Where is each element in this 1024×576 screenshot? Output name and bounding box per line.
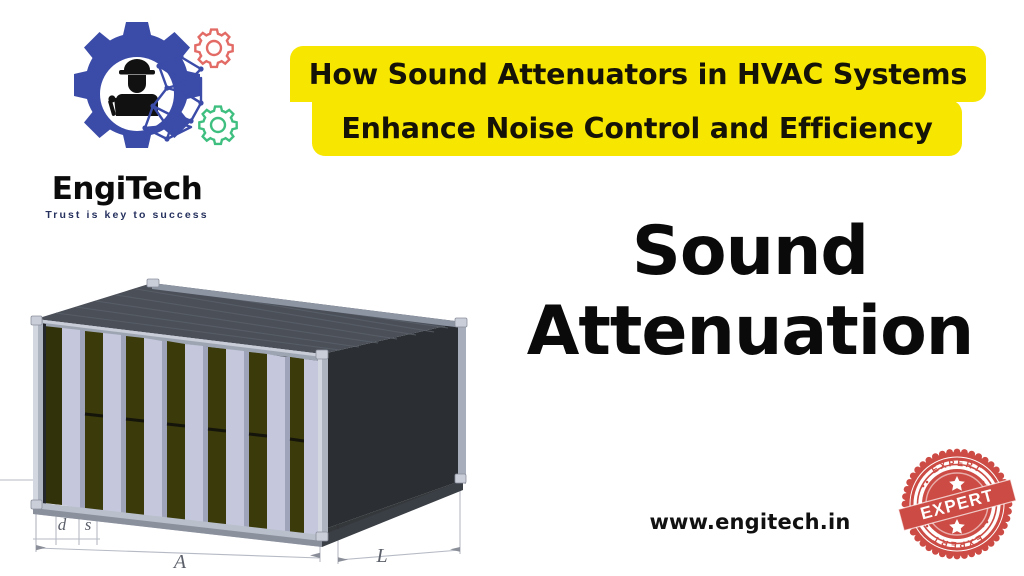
dimension-label-d: d — [58, 515, 67, 534]
dimension-label-A: A — [172, 551, 187, 573]
website-url[interactable]: www.engitech.in — [560, 510, 940, 534]
gear-red-outline-icon — [195, 30, 232, 67]
brand-tagline: Trust is key to success — [18, 210, 236, 221]
attenuator-side-panel — [322, 322, 463, 530]
brand-name: EngiTech — [18, 174, 236, 205]
baffle-array — [44, 326, 320, 539]
gear-engineer-logo-icon — [18, 14, 258, 174]
page-title: Sound Attenuation — [500, 212, 1000, 372]
dimension-arrows — [36, 545, 460, 562]
title-banner-line-2: Enhance Noise Control and Efficiency — [312, 100, 962, 156]
dimension-label-s: s — [85, 515, 92, 534]
title-banner-line-1: How Sound Attenuators in HVAC Systems — [290, 46, 986, 102]
page-title-line-1: Sound — [500, 212, 1000, 292]
banner-canvas: EngiTech Trust is key to success How Sou… — [0, 0, 1024, 576]
brand-logo-block[interactable]: EngiTech Trust is key to success — [18, 14, 258, 224]
expert-stamp-icon: EXPERT EXPERT EXPERT — [896, 440, 1018, 566]
gear-green-outline-icon — [199, 107, 236, 144]
dimension-label-L: L — [375, 545, 387, 567]
page-title-line-2: Attenuation — [500, 292, 1000, 372]
sound-attenuator-diagram: d s A L — [0, 262, 500, 576]
